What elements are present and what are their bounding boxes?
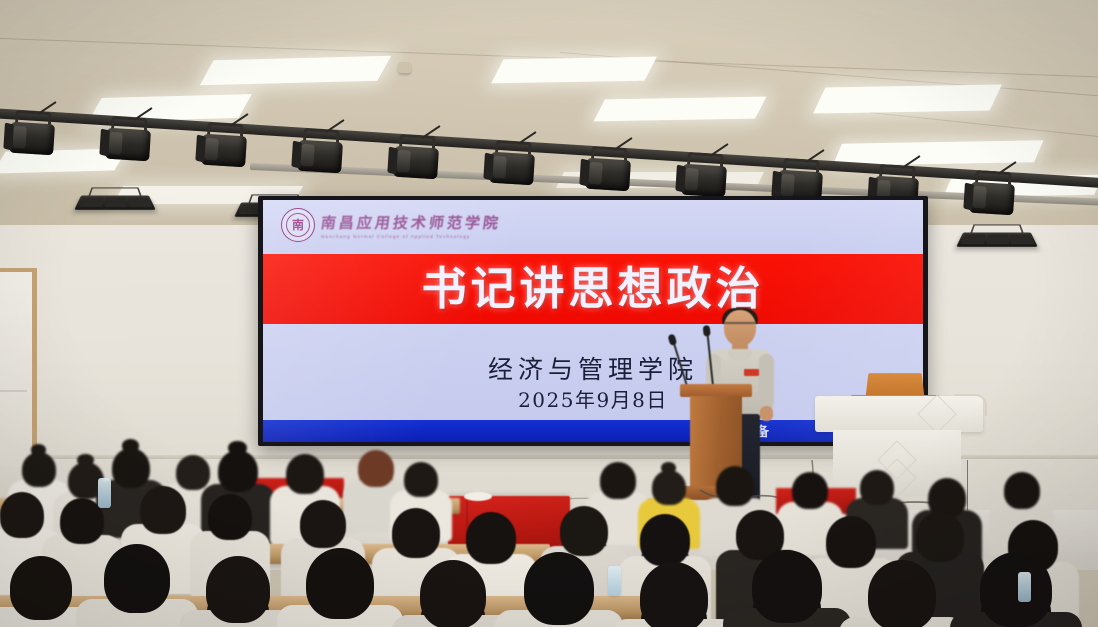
podium-gooseneck-lamp [955,394,987,416]
speaker-right-arm [759,354,774,409]
audience-head [916,512,964,562]
spotlight-lens [780,174,794,197]
water-bottle [1018,572,1031,602]
stage-spotlight [105,127,151,162]
ceiling-panel-light [491,57,657,84]
audience-head [752,550,822,623]
institution-logo: 南 南昌应用技术师范学院 Nanchang Normal College of … [281,208,501,242]
audience-head [176,455,210,490]
spotlight-body [9,121,55,155]
spotlight-lens [588,162,602,185]
spotlight-lens [492,156,506,179]
spotlight-lens [108,132,122,155]
spotlight-barndoor [195,134,206,162]
ceiling-seam [870,112,1098,137]
flood-light-bar [956,232,1038,246]
audience-head [404,462,438,497]
audience-head [206,556,270,623]
spotlight-body [201,133,247,167]
stage-spotlight [489,152,535,187]
stage-spotlight [681,164,727,199]
spotlight-body [969,182,1015,216]
spotlight-body [105,127,151,161]
audience-head [358,450,394,487]
spotlight-lens [972,186,986,209]
microphone-head [703,325,711,337]
stage-spotlight [969,182,1015,217]
smoke-detector-icon [398,62,411,73]
spotlight-body [489,152,535,186]
spotlight-barndoor [387,146,398,174]
seal-glyph: 南 [286,213,310,237]
audience-head [104,544,170,613]
spotlight-lens [204,138,218,161]
audience-head [524,552,594,625]
audience-head [560,506,608,556]
audience-head [306,548,374,619]
spotlight-lens [684,168,698,191]
audience-head [640,562,708,627]
spotlight-lens [300,144,314,167]
water-bottle [608,566,621,596]
stage-spotlight [393,145,439,180]
spotlight-body [585,158,631,192]
audience-head [980,552,1052,627]
ceiling-panel-light [813,84,1002,113]
spotlight-barndoor [579,158,590,186]
lecture-hall-photo: 南 南昌应用技术师范学院 Nanchang Normal College of … [0,0,1098,627]
institution-name-block: 南昌应用技术师范学院 Nanchang Normal College of Ap… [321,212,501,239]
floodbar-segment [1009,234,1034,243]
spotlight-barndoor [483,152,494,180]
floodbar-segment [104,198,127,207]
audience-head [652,470,686,505]
speaker-shirt-badge [744,369,759,376]
audience-head [420,560,486,627]
table-plate [464,492,492,501]
spotlight-barndoor [291,140,302,168]
flood-light-bar [74,196,156,210]
audience-head [300,500,346,548]
audience-head [860,470,894,505]
speaker-right-hand [760,406,773,421]
audience-head [640,514,690,566]
speaker-glasses [725,322,755,330]
spotlight-body [393,145,439,179]
institution-seal-icon: 南 [281,208,315,242]
spotlight-body [681,164,727,198]
slide-title: 书记讲思想政治 [263,258,923,320]
stage-spotlight [297,139,343,174]
audience-head [140,486,186,534]
floodbar-segment [79,198,104,207]
door-panel-line [0,390,27,392]
audience-head [392,508,440,558]
audience-head [22,452,56,487]
floodbar-segment [986,234,1009,243]
audience-head [1004,472,1040,509]
spotlight-barndoor [675,164,686,192]
audience-head [868,560,936,627]
ceiling-panel-light [200,56,391,86]
audience-head [792,472,828,509]
spotlight-barndoor [963,183,974,211]
audience-head [112,448,150,488]
spotlight-lens [12,125,26,148]
floodbar-hanger [88,188,141,196]
audience-head [286,454,324,494]
spotlight-barndoor [3,122,14,150]
audience-head [466,512,516,564]
stage-spotlight [201,133,247,168]
floodbar-hanger [970,224,1023,232]
floodbar-segment [127,198,152,207]
ceiling-panel-light [594,97,767,122]
audience-head [10,556,72,620]
floodbar-segment [961,234,986,243]
spotlight-lens [396,150,410,173]
water-bottle [98,478,111,508]
audience-head [826,516,876,568]
audience-head [208,494,252,540]
spotlight-body [297,139,343,173]
audience-head [0,492,44,538]
spotlight-barndoor [771,170,782,198]
institution-name-en: Nanchang Normal College of Applied Techn… [321,234,501,239]
spotlight-barndoor [99,128,110,156]
audience-head [218,450,258,492]
institution-name-cn: 南昌应用技术师范学院 [320,212,503,233]
stage-spotlight [9,121,55,156]
audience-head [716,466,754,506]
audience-head [600,462,636,499]
stage-spotlight [585,158,631,193]
